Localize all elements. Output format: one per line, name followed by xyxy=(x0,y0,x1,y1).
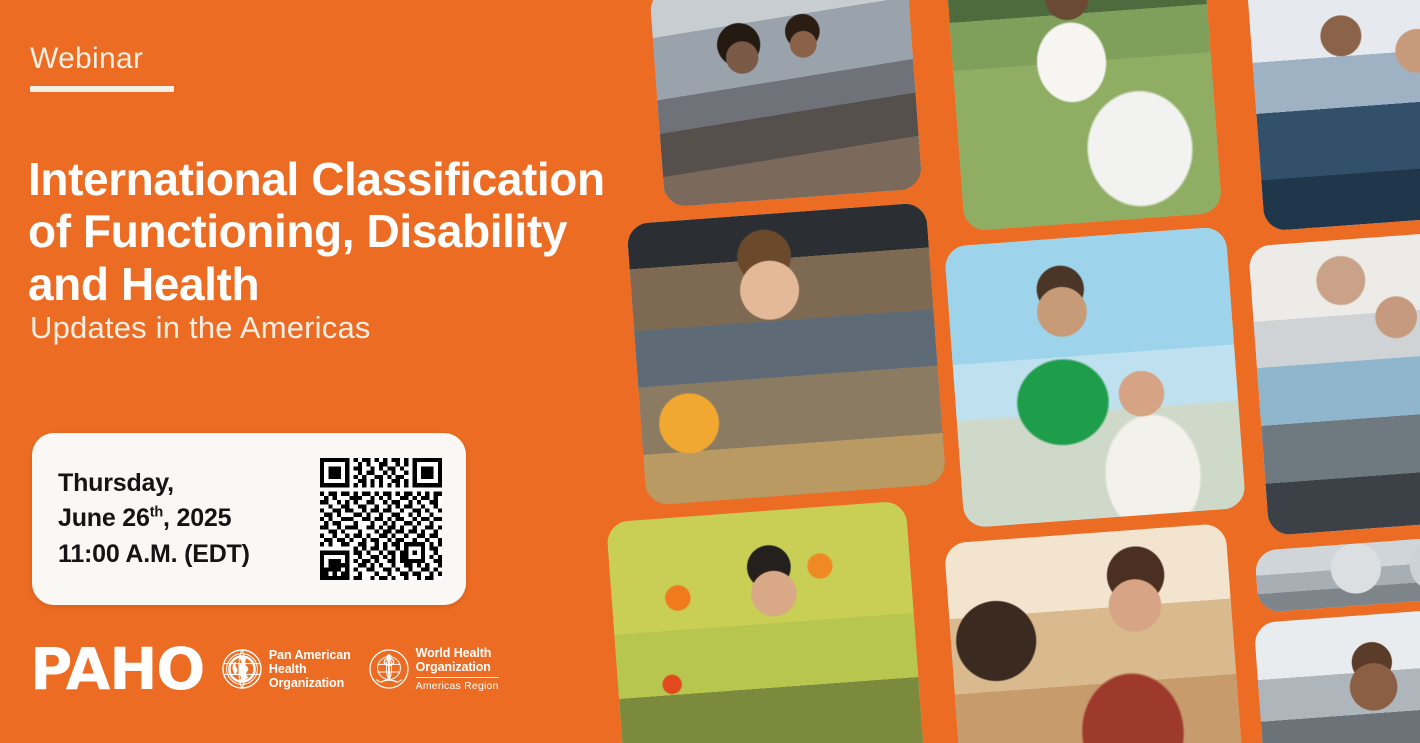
photo-market xyxy=(626,202,946,505)
photo-physiotherapy xyxy=(1248,228,1420,536)
who-logo: World Health Organization Americas Regio… xyxy=(369,646,499,692)
date-ordinal-suffix: th xyxy=(150,505,163,521)
date-year: , 2025 xyxy=(163,504,231,532)
who-line-2: Organization xyxy=(416,660,499,674)
who-region-label: Americas Region xyxy=(416,680,499,692)
qr-code-icon[interactable] xyxy=(320,458,442,580)
collage-tile-athlete xyxy=(945,0,1222,231)
who-line-1: World Health xyxy=(416,646,499,660)
eyebrow-label: Webinar xyxy=(30,44,174,74)
pan-american-line-3: Organization xyxy=(269,676,351,690)
pan-american-logo: Pan American Health Organization xyxy=(222,648,351,690)
page-title: International Classification of Function… xyxy=(28,153,648,310)
qr-code-wrapper[interactable] xyxy=(320,458,466,580)
collage-tile-sign xyxy=(944,523,1244,743)
paho-wordmark: PAHO xyxy=(30,640,204,698)
photo-family xyxy=(944,226,1246,528)
who-label: World Health Organization Americas Regio… xyxy=(416,646,499,692)
date-month-day: June 26 xyxy=(58,504,150,532)
collage-tile-office xyxy=(1246,0,1420,231)
date-card: Thursday, June 26th, 2025 11:00 A.M. (ED… xyxy=(32,433,466,605)
date-day-line: Thursday, xyxy=(58,466,320,502)
pan-american-line-2: Health xyxy=(269,662,351,676)
title-line-2: of Functioning, Disability xyxy=(28,205,567,257)
collage-tile-market xyxy=(626,202,946,505)
logo-row: PAHO Pan American Health Organization xyxy=(30,640,499,698)
photo-gym xyxy=(1254,605,1420,743)
who-divider xyxy=(416,677,499,678)
pan-american-label: Pan American Health Organization xyxy=(269,648,351,690)
webinar-banner: Webinar International Classification of … xyxy=(0,0,1420,743)
eyebrow-block: Webinar xyxy=(30,44,174,92)
who-emblem xyxy=(369,649,409,689)
collage-tile-gym xyxy=(1254,605,1420,743)
who-text: World Health Organization xyxy=(416,646,499,674)
date-time-line: 11:00 A.M. (EDT) xyxy=(58,537,320,573)
eyebrow-rule xyxy=(30,86,174,92)
title-line-1: International Classification xyxy=(28,153,605,205)
text-column: Webinar International Classification of … xyxy=(0,0,660,743)
date-text: Thursday, June 26th, 2025 11:00 A.M. (ED… xyxy=(32,466,320,573)
pan-american-line-1: Pan American xyxy=(269,648,351,662)
title-line-3: and Health xyxy=(28,258,259,310)
date-month-line: June 26th, 2025 xyxy=(58,501,320,537)
photo-sign-language xyxy=(944,523,1244,743)
photo-drums xyxy=(1254,533,1420,613)
collage-tile-family xyxy=(944,226,1246,528)
collage-tile-physio xyxy=(1248,228,1420,536)
photo-office xyxy=(1246,0,1420,231)
page-subtitle: Updates in the Americas xyxy=(30,310,630,346)
photo-athlete xyxy=(945,0,1222,231)
paho-globe-emblem xyxy=(222,649,262,689)
collage-tile-drums xyxy=(1254,533,1420,613)
photo-classroom xyxy=(649,0,922,207)
collage-tile-classroom xyxy=(649,0,922,207)
